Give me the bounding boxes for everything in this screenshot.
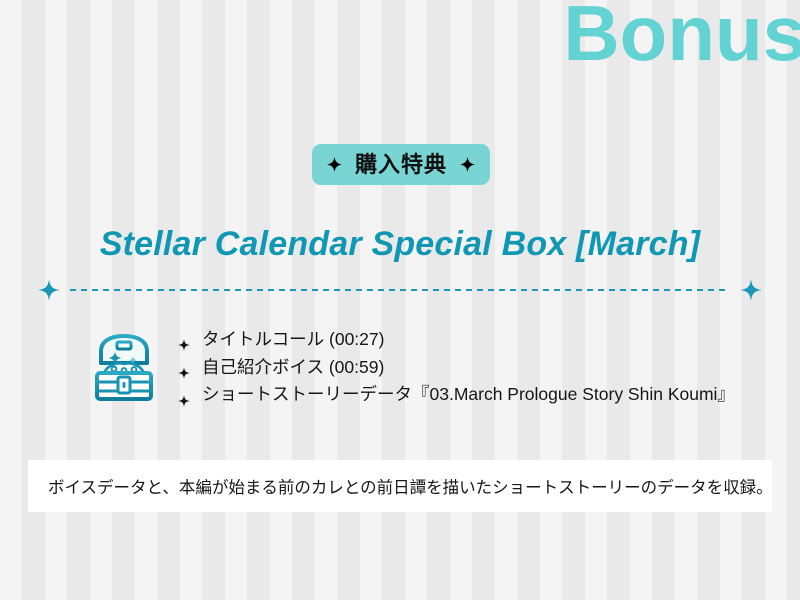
sparkle-icon (460, 157, 475, 172)
list-item-label: 自己紹介ボイス (00:59) (202, 354, 384, 382)
bonus-feature-list: タイトルコール (00:27) 自己紹介ボイス (00:59) ショートストーリ… (178, 326, 748, 409)
treasure-chest-icon (88, 329, 160, 405)
list-item-label: ショートストーリーデータ『03.March Prologue Story Shi… (202, 381, 735, 409)
section-divider (38, 278, 762, 302)
sparkle-icon (327, 157, 342, 172)
page-title-bonus: Bonus (563, 0, 800, 72)
purchase-bonus-badge: 購入特典 (312, 144, 490, 185)
list-item: ショートストーリーデータ『03.March Prologue Story Shi… (178, 381, 748, 409)
bonus-contents-row: タイトルコール (00:27) 自己紹介ボイス (00:59) ショートストーリ… (88, 326, 748, 409)
caption-bar: ボイスデータと、本編が始まる前のカレとの前日譚を描いたショートストーリーのデータ… (28, 460, 772, 512)
sparkle-icon (178, 332, 193, 347)
list-item: 自己紹介ボイス (00:59) (178, 354, 748, 382)
badge-label: 購入特典 (355, 154, 447, 176)
sparkle-icon (178, 388, 193, 403)
sparkle-icon (38, 279, 60, 301)
product-title: Stellar Calendar Special Box [March] (0, 224, 800, 265)
divider-dashed-line (70, 289, 730, 291)
sparkle-icon (740, 279, 762, 301)
caption-text: ボイスデータと、本編が始まる前のカレとの前日譚を描いたショートストーリーのデータ… (28, 474, 773, 498)
list-item-label: タイトルコール (00:27) (202, 326, 384, 354)
sparkle-icon (178, 360, 193, 375)
bonus-info-page: Bonus 購入特典 Stellar Calendar Special Box … (0, 0, 800, 600)
list-item: タイトルコール (00:27) (178, 326, 748, 354)
